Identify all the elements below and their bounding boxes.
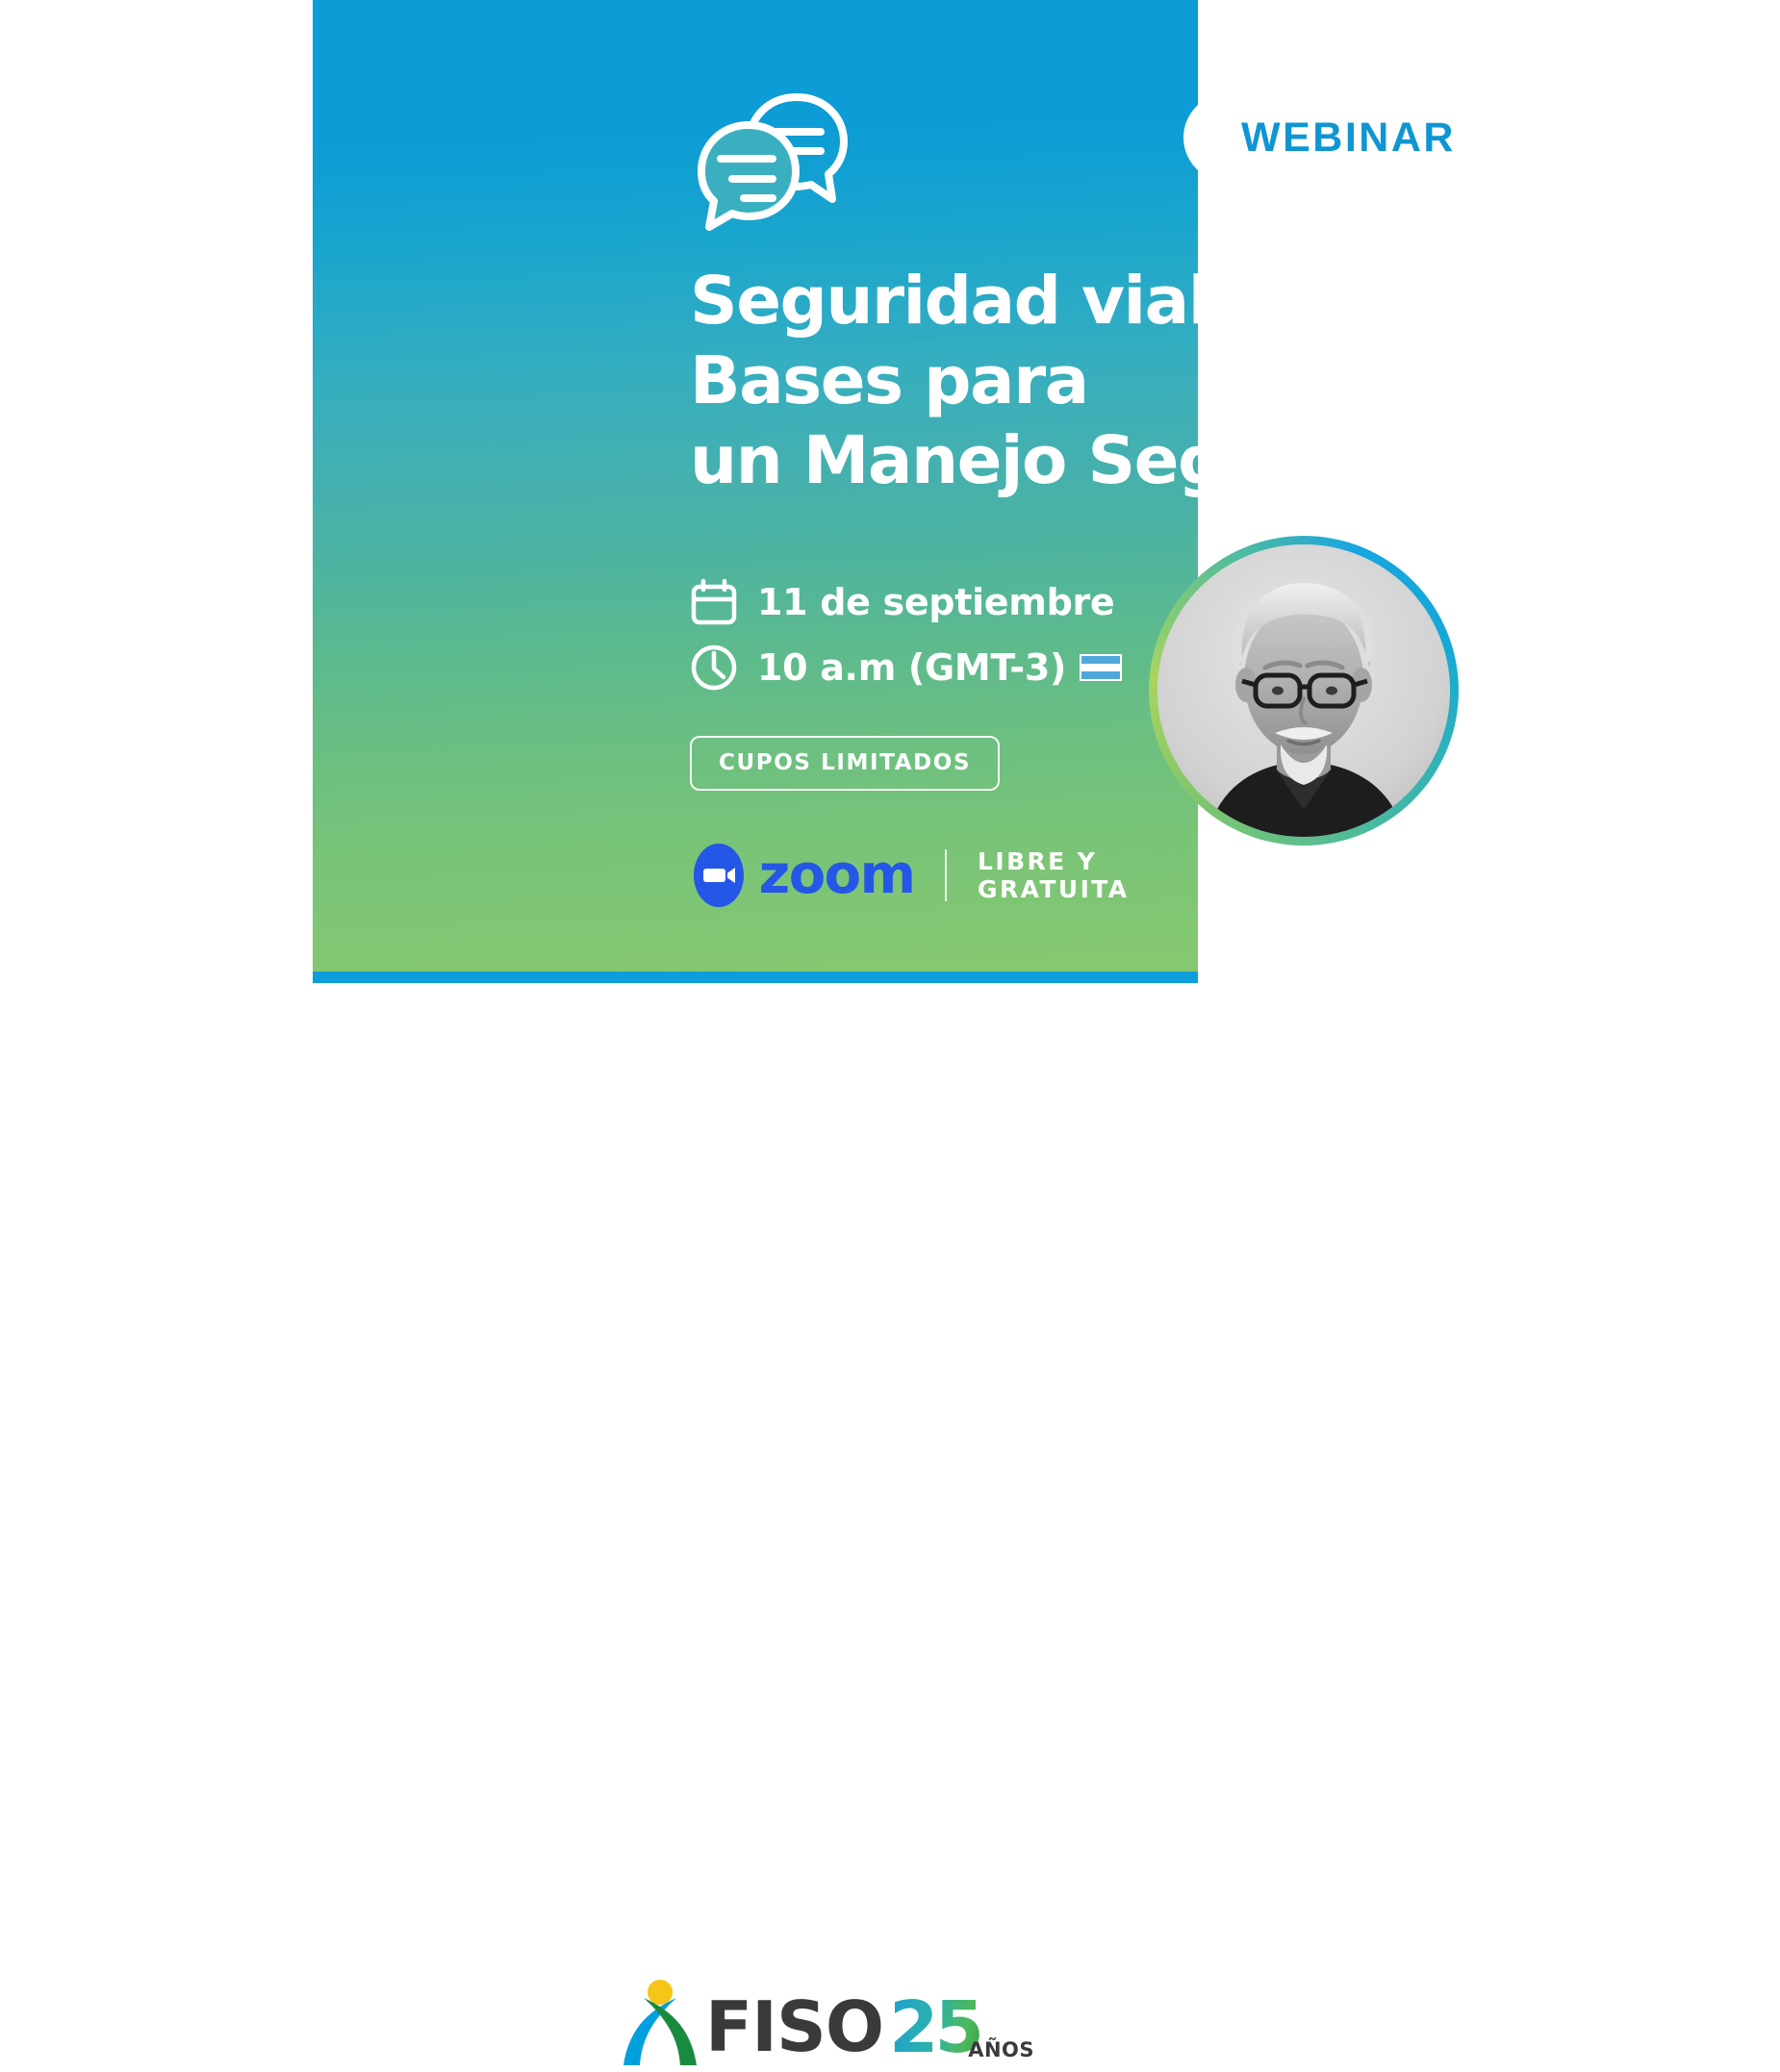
event-date-row: 11 de septiembre: [690, 572, 1122, 632]
limited-seats-badge: CUPOS LIMITADOS: [690, 736, 1000, 791]
title-line-3: un Manejo Seguro: [690, 421, 1460, 501]
event-time-text: 10 a.m (GMT-3): [757, 646, 1066, 689]
webinar-poster-card: WEBINAR Seguridad vial: Bases para un Ma…: [313, 0, 1198, 972]
anniversary-mark: 25 AÑOS: [889, 1992, 980, 2063]
calendar-icon: [690, 578, 738, 626]
fiso-wordmark: FISO: [705, 1992, 883, 2061]
speaker-avatar: [1157, 544, 1450, 837]
speaker-name: Ing. Héctor Eduardo Roitman: [1130, 852, 1478, 971]
webinar-badge-label: WEBINAR: [1241, 114, 1456, 162]
speaker-name-line-1: Ing. Héctor Eduardo: [1130, 852, 1478, 931]
zoom-wordmark: zoom: [759, 848, 915, 902]
event-time-row: 10 a.m (GMT-3): [690, 638, 1122, 697]
speaker-name-line-2: Roitman: [1130, 931, 1478, 971]
divider: [945, 849, 947, 901]
poster-bottom-accent-bar: [313, 972, 1198, 983]
title-line-1: Seguridad vial:: [690, 262, 1460, 341]
footer: FISO 25 AÑOS: [0, 983, 1780, 1332]
speaker-avatar-ring: [1149, 536, 1459, 846]
event-time: 10 a.m (GMT-3): [757, 646, 1122, 689]
zoom-logo-icon: [694, 844, 744, 907]
chat-bubbles-icon: [698, 91, 866, 231]
event-date: 11 de septiembre: [757, 581, 1114, 623]
title-line-2: Bases para: [690, 341, 1460, 421]
page-title: Seguridad vial: Bases para un Manejo Seg…: [690, 262, 1460, 501]
platform-row: zoom LIBRE Y GRATUITA: [694, 844, 1198, 907]
anniversary-number: 25: [889, 1986, 980, 2069]
event-details: 11 de septiembre 10 a.m (GMT-3): [690, 572, 1122, 703]
fiso-logo: FISO 25 AÑOS: [621, 1979, 980, 2067]
fiso-head-dot: [648, 1980, 673, 2005]
argentina-flag-icon: [1080, 654, 1122, 681]
clock-icon: [690, 644, 738, 692]
anniversary-word: AÑOS: [968, 2038, 1034, 2061]
webinar-badge: WEBINAR: [1183, 93, 1568, 182]
fiso-person-icon: [621, 1979, 699, 2067]
